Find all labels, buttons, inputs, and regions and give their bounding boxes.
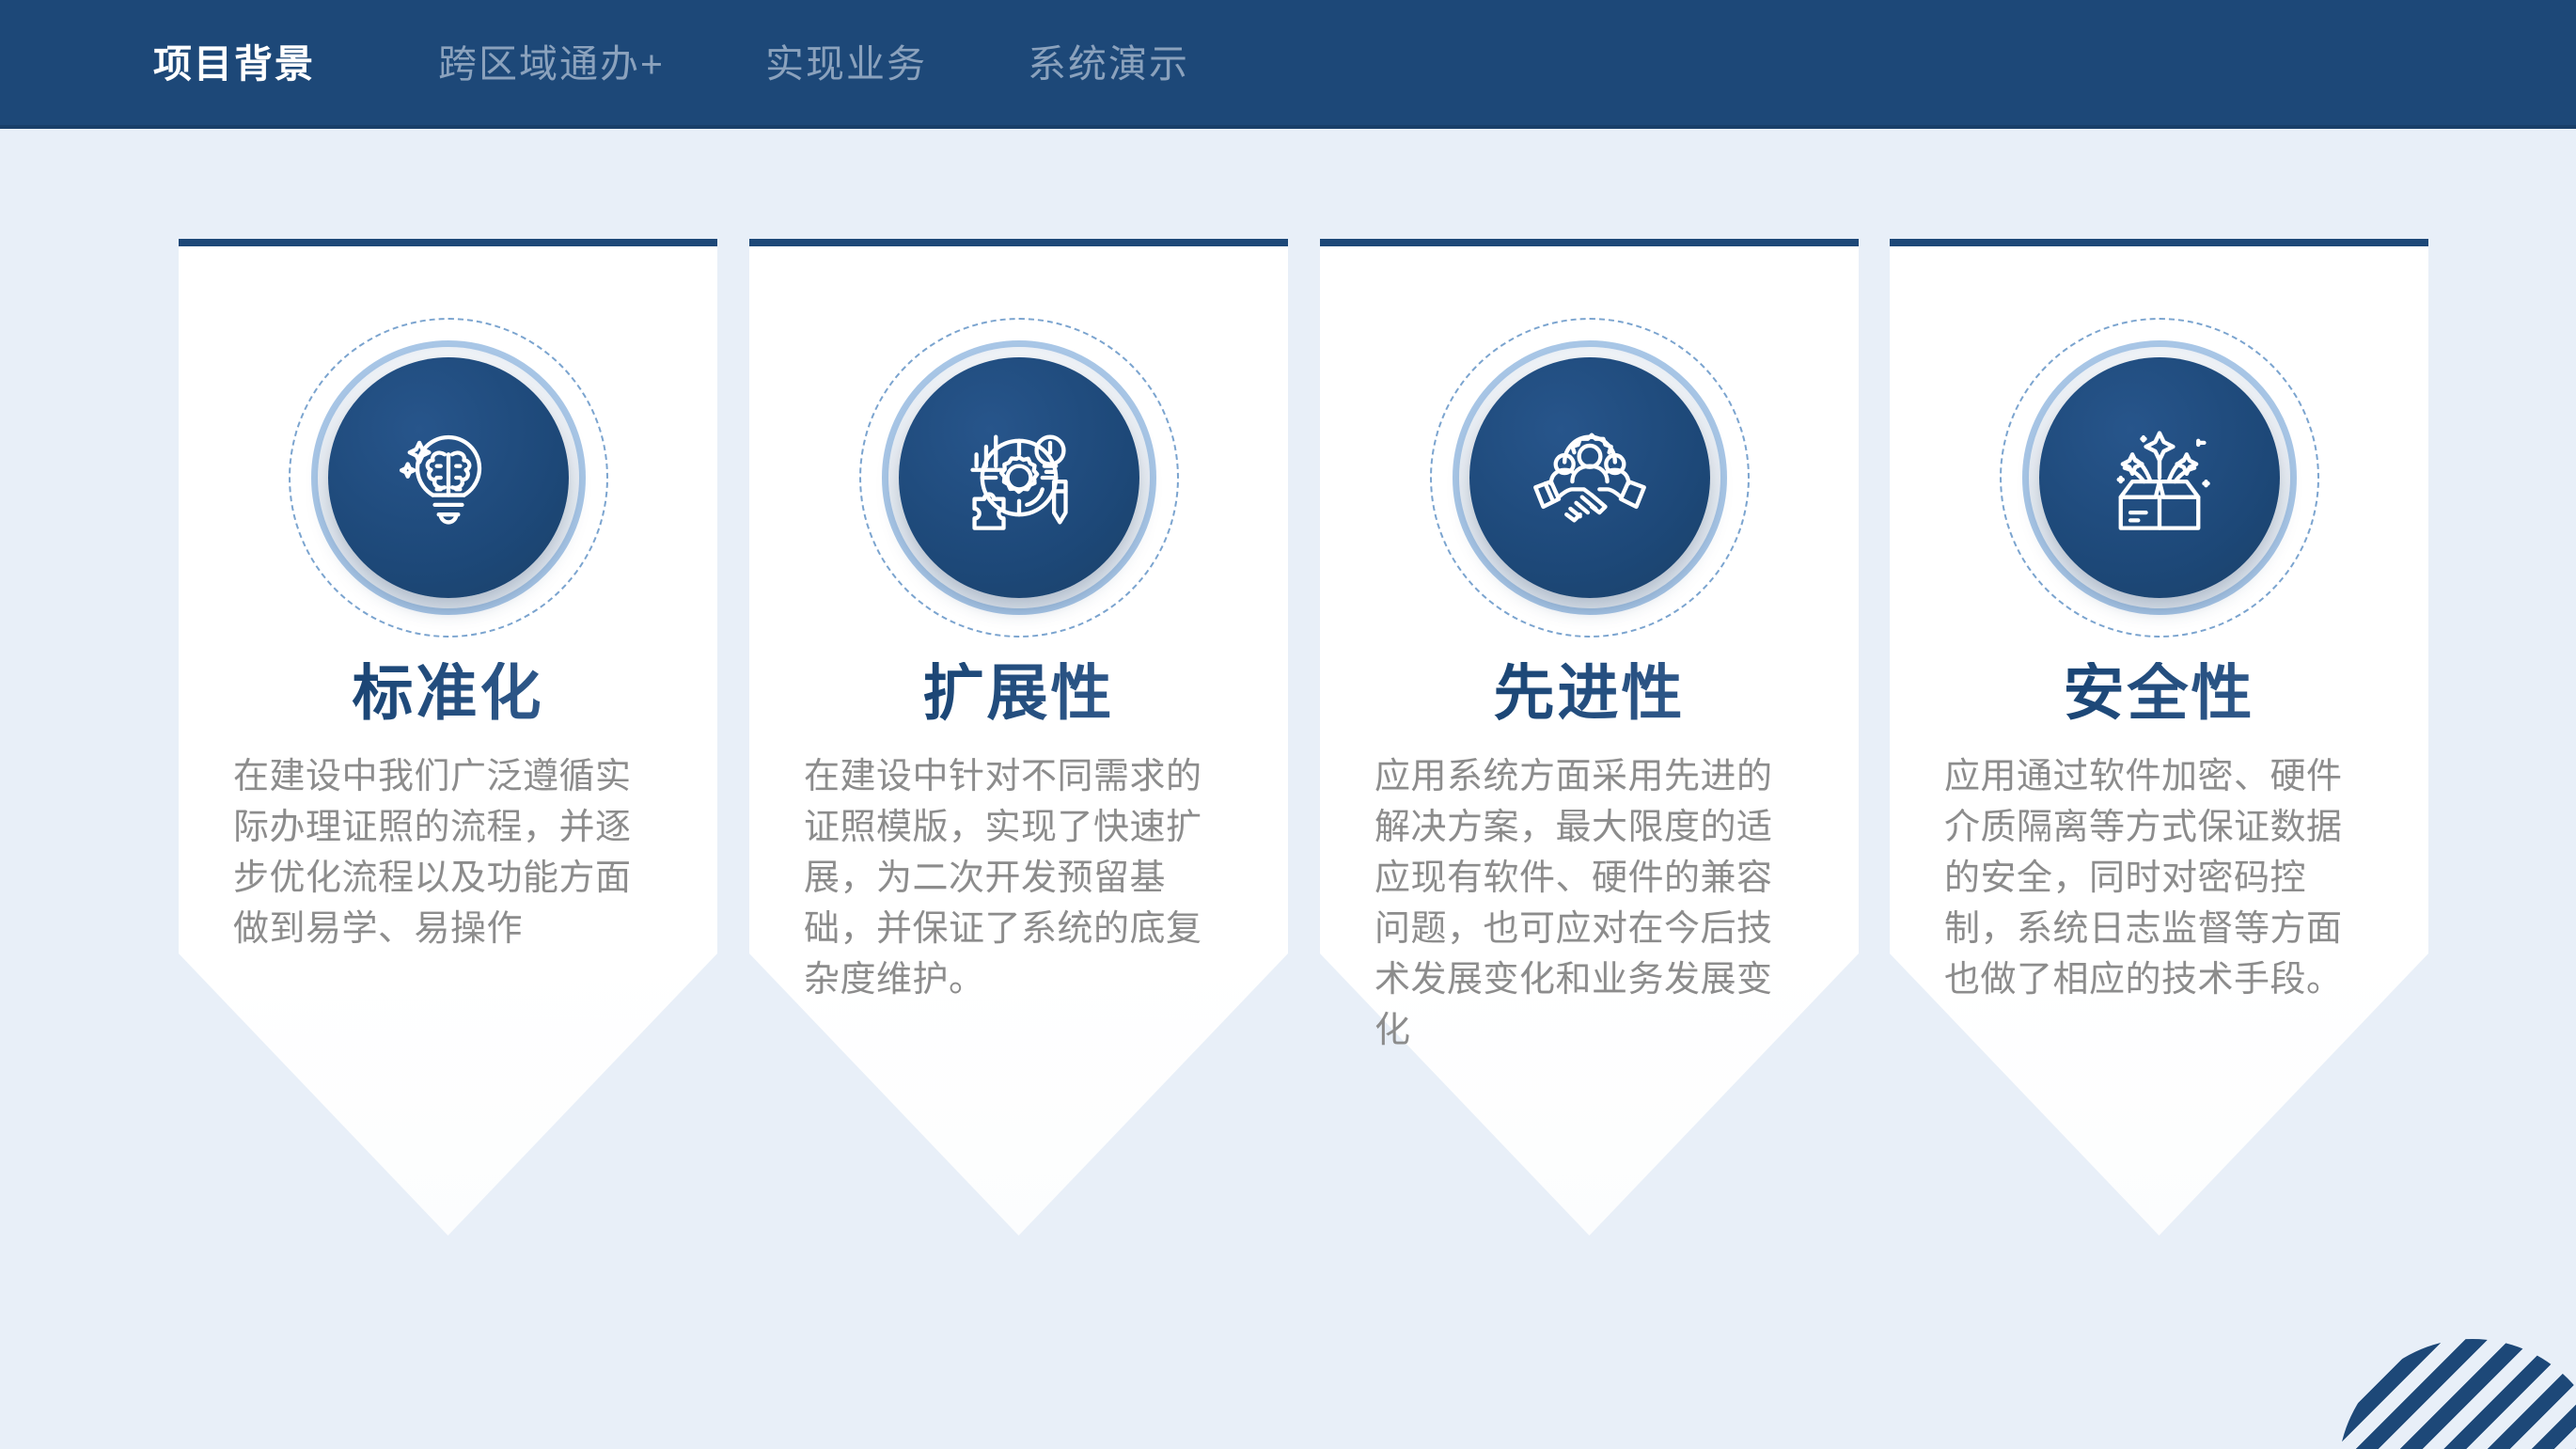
card-description: 应用通过软件加密、硬件介质隔离等方式保证数据的安全，同时对密码控制，系统日志监督… (1944, 751, 2377, 1005)
card-icon-badge (1430, 318, 1750, 638)
card-accent-bar (749, 239, 1288, 246)
card-icon-badge (289, 318, 608, 638)
card-accent-bar (179, 239, 717, 246)
feature-card-advancement[interactable]: 先进性 应用系统方面采用先进的解决方案，最大限度的适应现有软件、硬件的兼容问题，… (1320, 239, 1859, 1236)
feature-card-extensibility[interactable]: 扩展性 在建设中针对不同需求的证照模版，实现了快速扩展，为二次开发预留基础，并保… (749, 239, 1288, 1236)
card-icon-badge (2000, 318, 2319, 638)
lightbulb-brain-icon (328, 357, 569, 598)
card-title: 安全性 (1890, 662, 2428, 723)
open-box-celebration-icon (2039, 357, 2280, 598)
nav-tab-business[interactable]: 实现业务 (765, 45, 927, 84)
card-title: 扩展性 (749, 662, 1288, 723)
striped-circle-decoration (2338, 1339, 2576, 1449)
card-title: 先进性 (1320, 662, 1859, 723)
feature-cards-row: 标准化 在建设中我们广泛遵循实际办理证照的流程，并逐步优化流程以及功能方面做到易… (0, 129, 2576, 1449)
feature-card-standardization[interactable]: 标准化 在建设中我们广泛遵循实际办理证照的流程，并逐步优化流程以及功能方面做到易… (179, 239, 717, 1236)
diagonal-stripes (2338, 1339, 2576, 1449)
card-description: 在建设中针对不同需求的证照模版，实现了快速扩展，为二次开发预留基础，并保证了系统… (804, 751, 1236, 1005)
card-accent-bar (1320, 239, 1859, 246)
card-accent-bar (1890, 239, 2428, 246)
feature-card-security[interactable]: 安全性 应用通过软件加密、硬件介质隔离等方式保证数据的安全，同时对密码控制，系统… (1890, 239, 2428, 1236)
gear-project-planning-icon (899, 357, 1139, 598)
handshake-teamwork-icon (1469, 357, 1710, 598)
card-icon-badge (859, 318, 1179, 638)
nav-tab-project-background[interactable]: 项目背景 (153, 45, 315, 84)
card-description: 应用系统方面采用先进的解决方案，最大限度的适应现有软件、硬件的兼容问题，也可应对… (1374, 751, 1807, 1056)
card-description: 在建设中我们广泛遵循实际办理证照的流程，并逐步优化流程以及功能方面做到易学、易操… (233, 751, 666, 954)
card-title: 标准化 (179, 662, 717, 723)
top-navigation-bar: 项目背景 跨区域通办+ 实现业务 系统演示 (0, 0, 2576, 129)
nav-tab-system-demo[interactable]: 系统演示 (1028, 45, 1189, 84)
nav-tab-cross-region[interactable]: 跨区域通办+ (438, 45, 665, 84)
